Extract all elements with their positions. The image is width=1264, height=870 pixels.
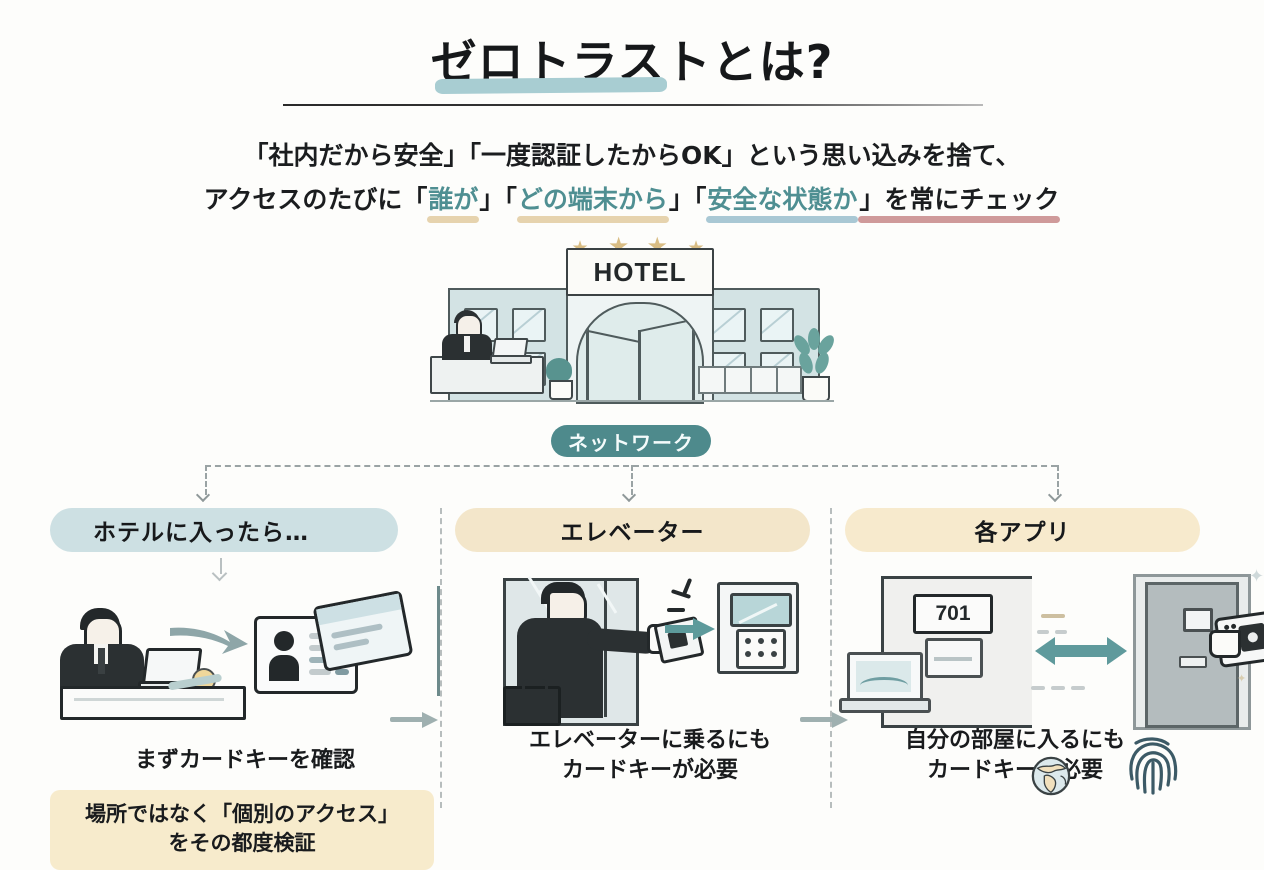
hotel-sign: HOTEL [566, 248, 714, 296]
wall-card-reader [925, 638, 983, 678]
subtitle-highlight-device: どの端末から [517, 180, 669, 216]
hotel-illustration: ★ ★ ★ ★ HOTEL [430, 236, 834, 436]
keypad-icon [736, 629, 786, 669]
arrow-down-icon [198, 490, 212, 502]
step-column-1: ホテルに入ったら… [50, 508, 440, 870]
step-2-caption-line-2: カードキーが必要 [455, 756, 845, 786]
step-2-pill: エレベーター [455, 508, 810, 552]
globe-icon [1030, 755, 1072, 797]
avatar [267, 629, 301, 681]
column-divider-1 [440, 508, 442, 808]
hotel-step-podium [698, 366, 802, 394]
step-2-caption-line-1: エレベーターに乗るにも [455, 726, 845, 756]
infographic-canvas: ゼロトラストとは? 「社内だから安全」「一度認証したからOK」という思い込みを捨… [0, 0, 1264, 848]
window-icon [712, 308, 746, 342]
ground-line [430, 400, 834, 402]
arrow-right-icon [665, 616, 717, 642]
step-2-illustration [455, 564, 845, 726]
step-1-pill: ホテルに入ったら… [50, 508, 398, 552]
subtitle-part-b: 」「 [479, 185, 517, 214]
accent-bar [437, 586, 440, 696]
door-peephole-plate [1183, 608, 1213, 632]
arrow-right-icon [168, 622, 254, 658]
step-3-pill: 各アプリ [845, 508, 1200, 552]
step-1-note-line-1: 場所ではなく「個別のアクセス」 [56, 800, 428, 829]
subtitle-line-2: アクセスのたびに「誰が」「どの端末から」「安全な状態か」を常にチェック [0, 180, 1264, 216]
room-number-plate: 701 [913, 594, 993, 634]
fingerprint-icon [1124, 735, 1182, 797]
page-title: ゼロトラストとは? [431, 26, 834, 92]
step-column-2: エレベーター [455, 508, 845, 785]
sparkle-icon: ✦ [1237, 672, 1246, 685]
sparkle-icon: ✦ [1249, 566, 1264, 587]
window-icon [512, 308, 546, 342]
arrow-right-icon [800, 712, 848, 726]
bidirectional-arrow-icon [1035, 634, 1127, 668]
subtitle-line-1: 「社内だから安全」「一度認証したからOK」という思い込みを捨て、 [0, 136, 1264, 172]
arrow-down-icon [624, 490, 638, 502]
door-handle [1179, 656, 1207, 668]
subtitle-highlight-who: 誰が [427, 180, 479, 216]
step-1-illustration [50, 586, 440, 746]
step-2-pill-label: エレベーター [561, 513, 705, 547]
subtitle-highlight-state: 安全な状態か [706, 180, 858, 216]
arrow-down-icon [1050, 490, 1064, 502]
briefcase-icon [503, 686, 561, 726]
step-3-pill-label: 各アプリ [975, 513, 1071, 547]
plant-icon [794, 328, 834, 398]
plant-icon [542, 358, 576, 396]
laptop-icon [839, 652, 925, 710]
arrow-right-icon [390, 712, 438, 726]
step-3-illustration: 701 ✦ ✦ ✦ [845, 564, 1235, 726]
subtitle-part-c: 」「 [669, 185, 707, 214]
step-1-note: 場所ではなく「個別のアクセス」 をその都度検証 [50, 790, 434, 870]
revolving-door [576, 302, 704, 404]
hand-icon [1209, 630, 1241, 658]
title-block: ゼロトラストとは? [0, 26, 1264, 92]
arrow-down-icon [50, 556, 440, 584]
laptop-icon [490, 338, 528, 360]
card-reader-panel [717, 582, 799, 674]
window-icon [760, 308, 794, 342]
step-1-pill-label: ホテルに入ったら… [93, 513, 309, 547]
step-1-note-line-2: をその都度検証 [56, 829, 428, 858]
step-1-caption: まずカードキーを確認 [50, 746, 440, 776]
title-divider [283, 104, 983, 106]
step-2-caption: エレベーターに乗るにも カードキーが必要 [455, 726, 845, 785]
secondary-card [313, 590, 414, 672]
network-badge: ネットワーク [551, 425, 711, 457]
subtitle-part-d: 」を常にチェック [858, 180, 1060, 216]
title-highlight-marker [435, 77, 667, 94]
subtitle-part-a: アクセスのたびに「 [204, 185, 428, 214]
